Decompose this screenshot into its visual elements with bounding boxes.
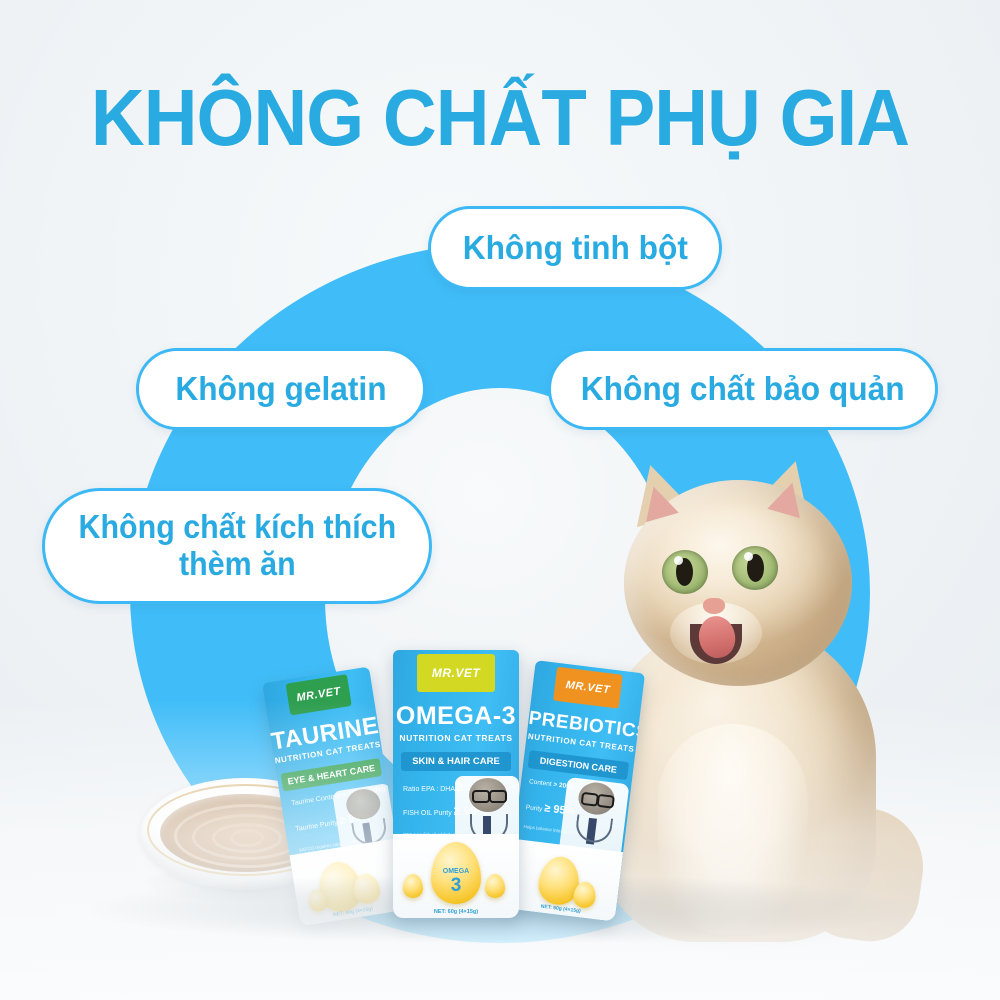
- benefit-label-line2: thèm ăn: [78, 546, 396, 583]
- benefit-label-line1: Không chất kích thích: [78, 509, 396, 546]
- product-care-band: DIGESTION CARE: [528, 750, 629, 780]
- oil-droplet: [403, 874, 423, 898]
- packet-bottom-panel: OMEGA 3 NET: 60g (4×15g): [393, 834, 519, 918]
- cat-chest: [658, 724, 808, 934]
- benefit-bubble-no-gelatin[interactable]: Không gelatin: [136, 348, 426, 430]
- brand-badge: MR.VET: [417, 654, 495, 692]
- benefit-bubble-no-starch[interactable]: Không tinh bột: [428, 206, 722, 290]
- brand-name: MR.VET: [565, 679, 611, 696]
- product-net-weight: NET: 60g (4×15g): [393, 909, 519, 915]
- brand-badge: MR.VET: [553, 667, 623, 709]
- cat-nose: [703, 598, 725, 614]
- vet-cat-head: [344, 787, 382, 822]
- brand-name: MR.VET: [296, 685, 342, 704]
- cat-eye-glint-left: [674, 556, 683, 565]
- product-subtitle: NUTRITION CAT TREATS: [393, 733, 519, 743]
- badge-top-label: OMEGA: [431, 868, 481, 875]
- oil-droplet: [485, 874, 505, 898]
- benefit-label: Không tinh bột: [462, 230, 687, 267]
- stethoscope: [574, 814, 613, 844]
- brand-badge: MR.VET: [286, 674, 352, 715]
- product-packet-omega3[interactable]: MR.VET OMEGA-3 NUTRITION CAT TREATS SKIN…: [393, 650, 519, 918]
- paste-swirl: [230, 829, 264, 847]
- omega3-droplet-badge: OMEGA 3: [431, 842, 481, 904]
- benefit-label: Không gelatin: [175, 371, 386, 408]
- brand-name: MR.VET: [432, 666, 480, 680]
- poster-canvas: KHÔNG CHẤT PHỤ GIA: [0, 0, 1000, 1000]
- benefit-label-wrapper: Không chất kích thích thèm ăn: [72, 509, 403, 583]
- product-care-band: SKIN & HAIR CARE: [401, 752, 511, 771]
- page-title: KHÔNG CHẤT PHỤ GIA: [35, 78, 965, 158]
- benefit-bubble-no-appetite-stimulant[interactable]: Không chất kích thích thèm ăn: [42, 488, 432, 604]
- glasses-icon: [489, 790, 507, 803]
- cat-eye-glint-right: [744, 552, 753, 561]
- packet-bottom-panel: NET: 60g (4×15g): [505, 839, 623, 922]
- glasses-icon: [472, 790, 490, 803]
- glasses-icon: [596, 794, 614, 809]
- benefit-bubble-no-preservatives[interactable]: Không chất bảo quản: [548, 348, 938, 430]
- badge-number: 3: [431, 876, 481, 895]
- product-name: OMEGA-3: [393, 702, 519, 731]
- benefit-label: Không chất bảo quản: [581, 371, 905, 408]
